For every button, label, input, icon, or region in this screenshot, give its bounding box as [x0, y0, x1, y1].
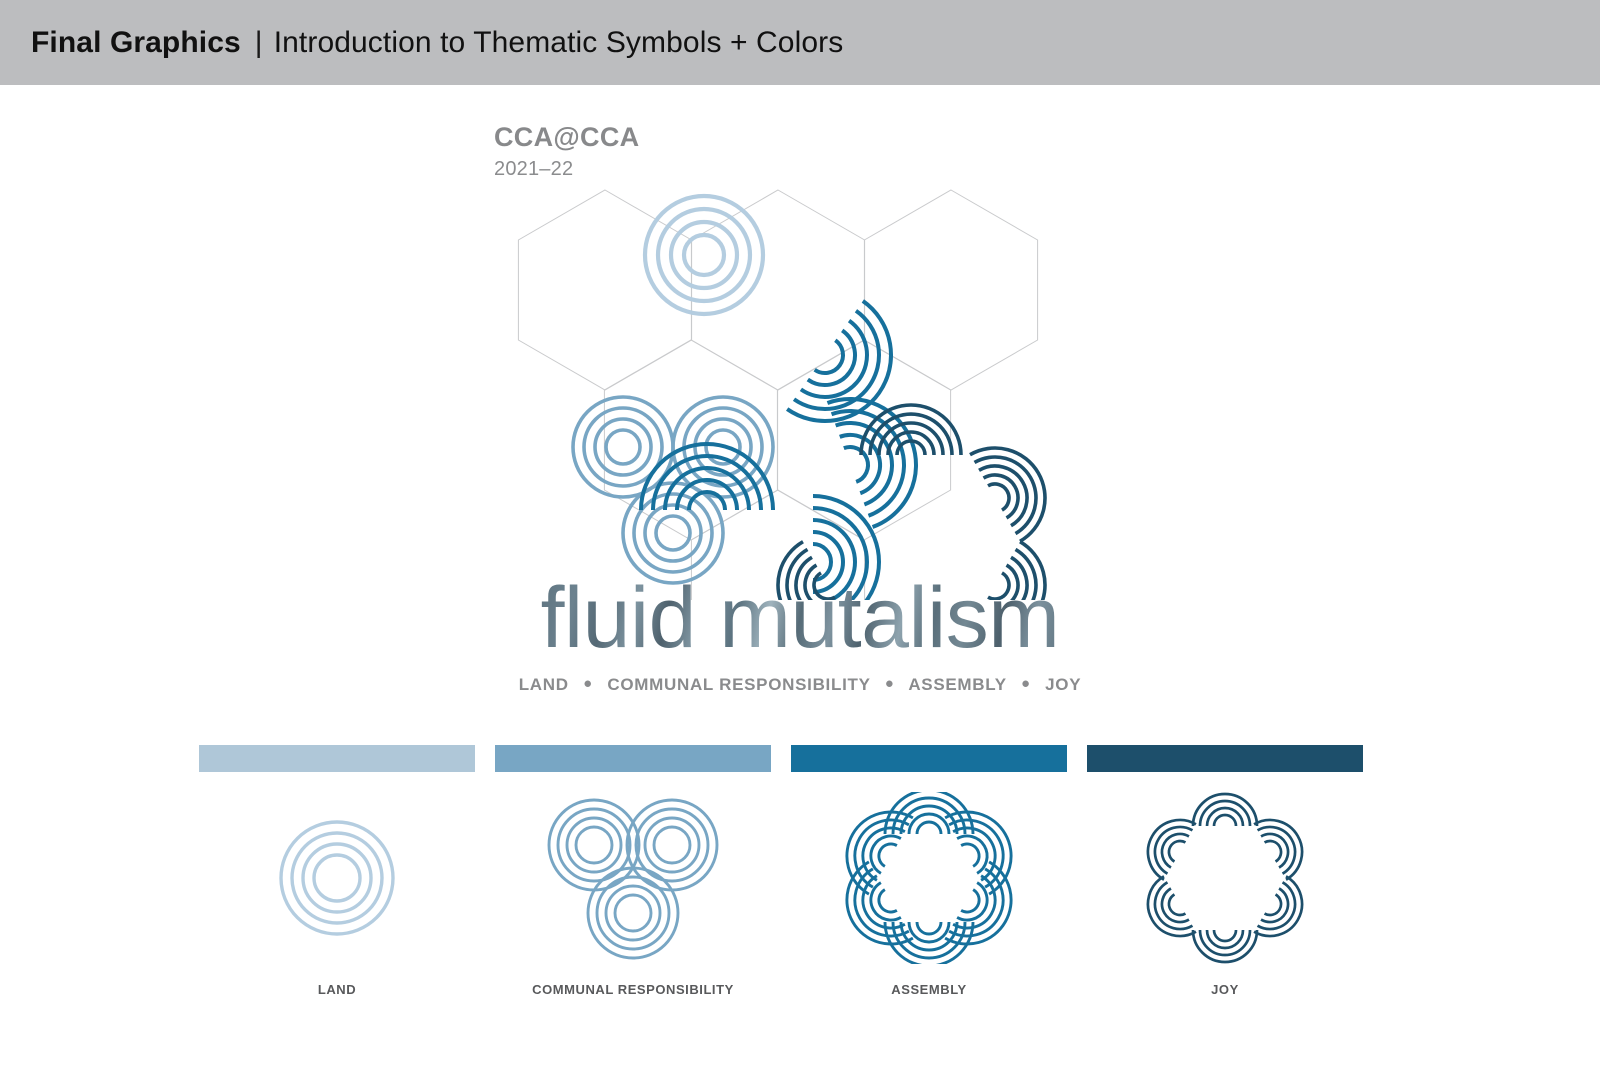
communal-responsibility-symbol-label: COMMUNAL RESPONSIBILITY — [532, 982, 734, 997]
land-swatch — [199, 745, 475, 772]
assembly-symbol-art — [843, 790, 1015, 965]
tagline-term-assembly: ASSEMBLY — [908, 675, 1006, 694]
concentric-rings-icon — [277, 818, 397, 938]
page-title-separator: | — [241, 26, 274, 60]
assembly-swatch — [791, 745, 1067, 772]
outward-arc-ring-icon — [1139, 792, 1311, 964]
assembly-symbol-label: ASSEMBLY — [891, 982, 966, 997]
joy-symbol-label: JOY — [1211, 982, 1239, 997]
tagline-term-joy: JOY — [1045, 675, 1081, 694]
joy-symbol-art — [1139, 790, 1311, 965]
wordmark-title: fluid mutalism — [541, 575, 1060, 661]
header-bar: Final Graphics | Introduction to Themati… — [0, 0, 1600, 85]
year-label: 2021–22 — [494, 158, 639, 182]
eyebrow-block: CCA@CCA 2021–22 — [494, 122, 639, 181]
land-symbol-cell: LAND — [199, 790, 475, 1020]
color-palette-row — [199, 745, 1379, 772]
page-title-primary: Final Graphics — [31, 26, 241, 60]
page-title-secondary: Introduction to Thematic Symbols + Color… — [274, 26, 844, 60]
bullet-separator-icon: ● — [876, 675, 904, 692]
inward-arc-rosette-icon — [843, 792, 1015, 964]
hexagon-symbol-composition — [495, 180, 1115, 600]
page-title: Final Graphics | Introduction to Themati… — [31, 26, 843, 60]
bullet-separator-icon: ● — [574, 675, 602, 692]
tagline: LAND ● COMMUNAL RESPONSIBILITY ● ASSEMBL… — [0, 675, 1600, 695]
communal-responsibility-swatch — [495, 745, 771, 772]
hero-artwork — [495, 180, 1115, 600]
hexagon-lattice — [518, 190, 1037, 600]
assembly-symbol-cell: ASSEMBLY — [791, 790, 1067, 1020]
bullet-separator-icon: ● — [1012, 675, 1040, 692]
land-symbol-label: LAND — [318, 982, 356, 997]
wordmark-block: fluid mutalism LAND ● COMMUNAL RESPONSIB… — [0, 575, 1600, 695]
hero-section: CCA@CCA 2021–22 — [0, 85, 1600, 715]
symbol-row: LAND COMMUNAL RESPONSIBILITY — [199, 790, 1379, 1020]
joy-symbol-cell: JOY — [1087, 790, 1363, 1020]
joy-swatch — [1087, 745, 1363, 772]
tagline-term-land: LAND — [519, 675, 569, 694]
land-symbol-art — [277, 790, 397, 965]
brand-label: CCA@CCA — [494, 122, 639, 154]
triple-concentric-rings-icon — [542, 793, 724, 963]
communal-responsibility-symbol-art — [542, 790, 724, 965]
hero-land-rings — [645, 196, 763, 314]
communal-responsibility-symbol-cell: COMMUNAL RESPONSIBILITY — [495, 790, 771, 1020]
slide-canvas: Final Graphics | Introduction to Themati… — [0, 0, 1600, 1068]
tagline-term-communal-responsibility: COMMUNAL RESPONSIBILITY — [607, 675, 870, 694]
